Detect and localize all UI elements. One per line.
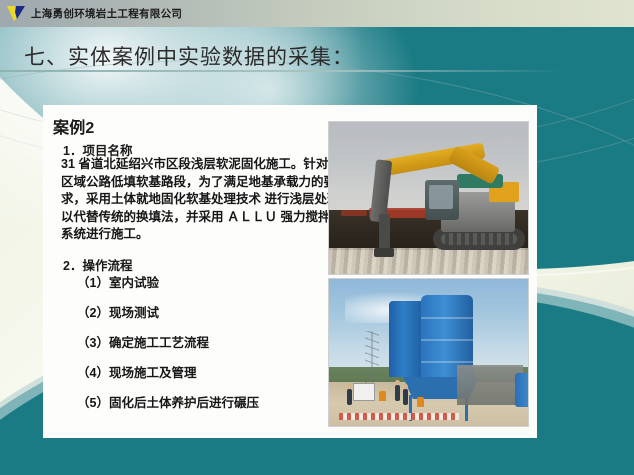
slide-canvas: 上海勇创环境岩土工程有限公司 七、实体案例中实验数据的采集： 案例2 1．项目名… (0, 0, 634, 475)
photo-silo-band (421, 361, 473, 363)
operation-steps-list: （1）室内试验 （2）现场测试 （3）确定施工工艺流程 （4）现场施工及管理 （… (77, 273, 367, 423)
photo-power-pylon (365, 331, 379, 383)
photo-rubble-texture (329, 248, 528, 274)
list-item: （4）现场施工及管理 (77, 363, 367, 393)
list-item: （1）室内试验 (77, 273, 367, 303)
photo-safety-barrier (339, 413, 459, 420)
photo-worker (403, 389, 408, 405)
photo-site-signboard (353, 383, 375, 401)
cement-silo-plant-photo (328, 278, 529, 427)
company-name-label: 上海勇创环境岩土工程有限公司 (31, 6, 182, 21)
section-2-label: 2．操作流程 (63, 255, 132, 274)
list-item: （5）固化后土体养护后进行碾压 (77, 393, 367, 423)
photo-worker (395, 385, 400, 401)
photo-worker (347, 389, 352, 405)
slide-heading: 七、实体案例中实验数据的采集： (24, 41, 354, 71)
photo-silo-band (421, 317, 473, 319)
list-item: （3）确定施工工艺流程 (77, 333, 367, 363)
excavator-mixing-head-photo (328, 121, 529, 275)
photo-worker-head (395, 380, 400, 385)
photo-traffic-cone (379, 391, 386, 401)
photo-traffic-cone (417, 397, 424, 407)
company-header-bar: 上海勇创环境岩土工程有限公司 (0, 0, 634, 27)
case-title: 案例2 (53, 114, 95, 138)
photo-excavator-track-detail (441, 233, 517, 245)
photo-silo-band (421, 339, 473, 341)
photo-worker-head (403, 384, 408, 389)
project-description-paragraph: 31 省道北延绍兴市区段浅层软泥固化施工。针对该区域公路低填软基路段，为了满足地… (61, 156, 343, 244)
photo-allu-mixing-head-tip (374, 248, 394, 257)
photo-background-equipment (341, 210, 367, 216)
photo-worker-head (347, 384, 352, 389)
content-panel: 案例2 1．项目名称 31 省道北延绍兴市区段浅层软泥固化施工。针对该区域公路低… (43, 105, 537, 438)
list-item: （2）现场测试 (77, 303, 367, 333)
photo-excavator-cab-window (429, 185, 453, 209)
photo-silo-rear (389, 301, 425, 377)
photo-mixing-plant (457, 365, 523, 405)
photo-blue-tank (515, 373, 529, 407)
heading-divider (0, 70, 560, 72)
company-logo-icon (7, 5, 28, 22)
